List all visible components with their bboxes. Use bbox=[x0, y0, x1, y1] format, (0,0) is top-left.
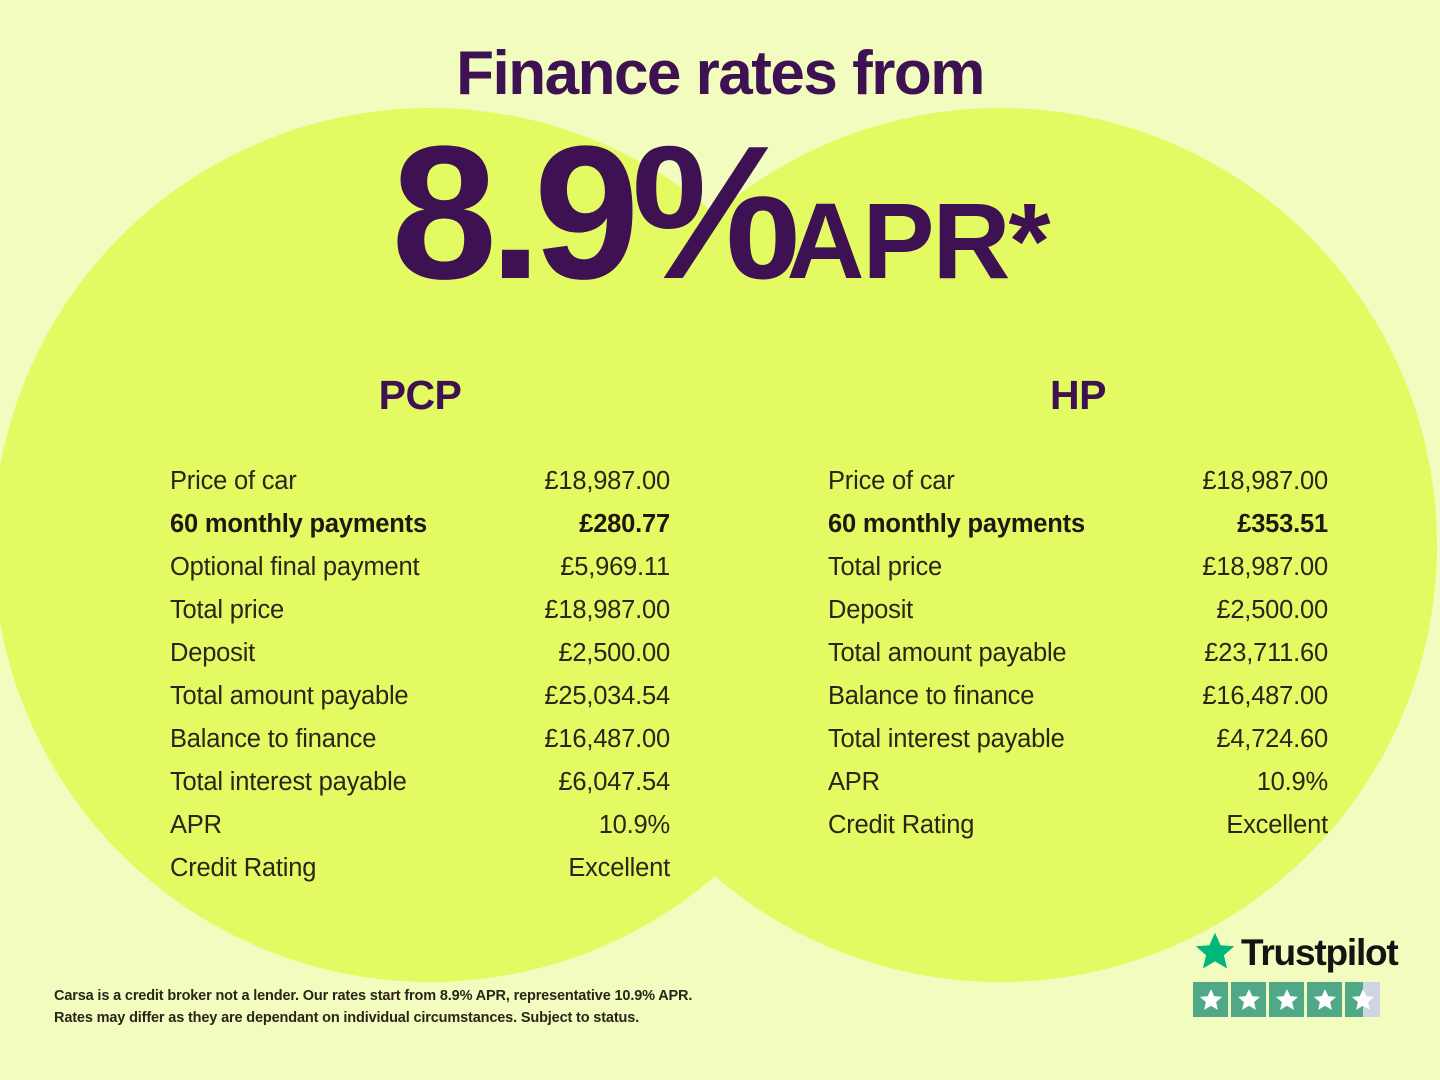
row-value: £4,724.60 bbox=[1216, 725, 1328, 754]
row-value: £2,500.00 bbox=[1216, 596, 1328, 625]
table-row: Credit RatingExcellent bbox=[828, 811, 1328, 854]
finance-column-pcp: PCP Price of car£18,987.0060 monthly pay… bbox=[170, 372, 670, 897]
row-label: Deposit bbox=[828, 596, 913, 625]
table-row: APR10.9% bbox=[828, 768, 1328, 811]
row-value: £280.77 bbox=[579, 510, 670, 539]
finance-table-hp: Price of car£18,987.0060 monthly payment… bbox=[828, 467, 1328, 854]
column-title-pcp: PCP bbox=[170, 372, 670, 419]
trustpilot-wordmark: Trustpilot bbox=[1193, 930, 1393, 976]
column-title-hp: HP bbox=[828, 372, 1328, 419]
disclaimer-line-1: Carsa is a credit broker not a lender. O… bbox=[54, 985, 814, 1007]
row-value: £25,034.54 bbox=[544, 682, 670, 711]
trustpilot-stars bbox=[1193, 982, 1393, 1017]
table-row: Total interest payable£4,724.60 bbox=[828, 725, 1328, 768]
row-label: Price of car bbox=[170, 467, 297, 496]
hero-rate: 8.9%APR* bbox=[0, 118, 1440, 308]
legal-disclaimer: Carsa is a credit broker not a lender. O… bbox=[54, 985, 814, 1030]
row-value: Excellent bbox=[1226, 811, 1328, 840]
row-label: APR bbox=[828, 768, 880, 797]
star-icon-filled bbox=[1307, 982, 1342, 1017]
table-row: Total interest payable£6,047.54 bbox=[170, 768, 670, 811]
row-value: £5,969.11 bbox=[560, 553, 670, 582]
row-label: Total price bbox=[170, 596, 284, 625]
row-value: £23,711.60 bbox=[1204, 639, 1328, 668]
row-label: APR bbox=[170, 811, 222, 840]
finance-column-hp: HP Price of car£18,987.0060 monthly paym… bbox=[828, 372, 1328, 854]
table-row: Balance to finance£16,487.00 bbox=[170, 725, 670, 768]
row-label: Balance to finance bbox=[828, 682, 1034, 711]
row-label: Credit Rating bbox=[170, 854, 316, 883]
hero-rate-number: 8.9% bbox=[391, 107, 792, 319]
table-row: Deposit£2,500.00 bbox=[828, 596, 1328, 639]
table-row: Price of car£18,987.00 bbox=[828, 467, 1328, 510]
row-label: Total interest payable bbox=[828, 725, 1065, 754]
table-row: Credit RatingExcellent bbox=[170, 854, 670, 897]
star-icon bbox=[1193, 930, 1237, 977]
row-value: 10.9% bbox=[599, 811, 670, 840]
table-row: Total price£18,987.00 bbox=[828, 553, 1328, 596]
hero-rate-suffix: APR* bbox=[787, 180, 1049, 301]
star-icon-filled bbox=[1231, 982, 1266, 1017]
row-label: Total amount payable bbox=[170, 682, 408, 711]
row-label: Total amount payable bbox=[828, 639, 1066, 668]
table-row: 60 monthly payments£280.77 bbox=[170, 510, 670, 553]
row-value: £6,047.54 bbox=[558, 768, 670, 797]
row-value: £2,500.00 bbox=[558, 639, 670, 668]
table-row: APR10.9% bbox=[170, 811, 670, 854]
finance-table-pcp: Price of car£18,987.0060 monthly payment… bbox=[170, 467, 670, 897]
row-value: £18,987.00 bbox=[1202, 553, 1328, 582]
row-value: £353.51 bbox=[1237, 510, 1328, 539]
disclaimer-line-2: Rates may differ as they are dependant o… bbox=[54, 1007, 814, 1029]
row-label: Credit Rating bbox=[828, 811, 974, 840]
star-icon-filled bbox=[1193, 982, 1228, 1017]
table-row: Price of car£18,987.00 bbox=[170, 467, 670, 510]
row-value: £16,487.00 bbox=[1202, 682, 1328, 711]
row-value: £16,487.00 bbox=[544, 725, 670, 754]
star-icon-half bbox=[1345, 982, 1380, 1017]
table-row: Optional final payment£5,969.11 bbox=[170, 553, 670, 596]
row-value: Excellent bbox=[568, 854, 670, 883]
row-label: Balance to finance bbox=[170, 725, 376, 754]
page-headline: Finance rates from bbox=[0, 38, 1440, 109]
trustpilot-rating: Trustpilot bbox=[1193, 930, 1393, 1017]
table-row: Total amount payable£25,034.54 bbox=[170, 682, 670, 725]
table-row: Balance to finance£16,487.00 bbox=[828, 682, 1328, 725]
table-row: Total amount payable£23,711.60 bbox=[828, 639, 1328, 682]
row-label: Total interest payable bbox=[170, 768, 407, 797]
row-value: £18,987.00 bbox=[544, 596, 670, 625]
row-label: 60 monthly payments bbox=[828, 510, 1085, 539]
row-value: £18,987.00 bbox=[1202, 467, 1328, 496]
star-icon-filled bbox=[1269, 982, 1304, 1017]
trustpilot-name: Trustpilot bbox=[1241, 932, 1398, 974]
row-value: £18,987.00 bbox=[544, 467, 670, 496]
table-row: Total price£18,987.00 bbox=[170, 596, 670, 639]
row-label: Deposit bbox=[170, 639, 255, 668]
table-row: Deposit£2,500.00 bbox=[170, 639, 670, 682]
row-label: Total price bbox=[828, 553, 942, 582]
table-row: 60 monthly payments£353.51 bbox=[828, 510, 1328, 553]
row-label: Price of car bbox=[828, 467, 955, 496]
row-label: Optional final payment bbox=[170, 553, 419, 582]
row-label: 60 monthly payments bbox=[170, 510, 427, 539]
row-value: 10.9% bbox=[1257, 768, 1328, 797]
